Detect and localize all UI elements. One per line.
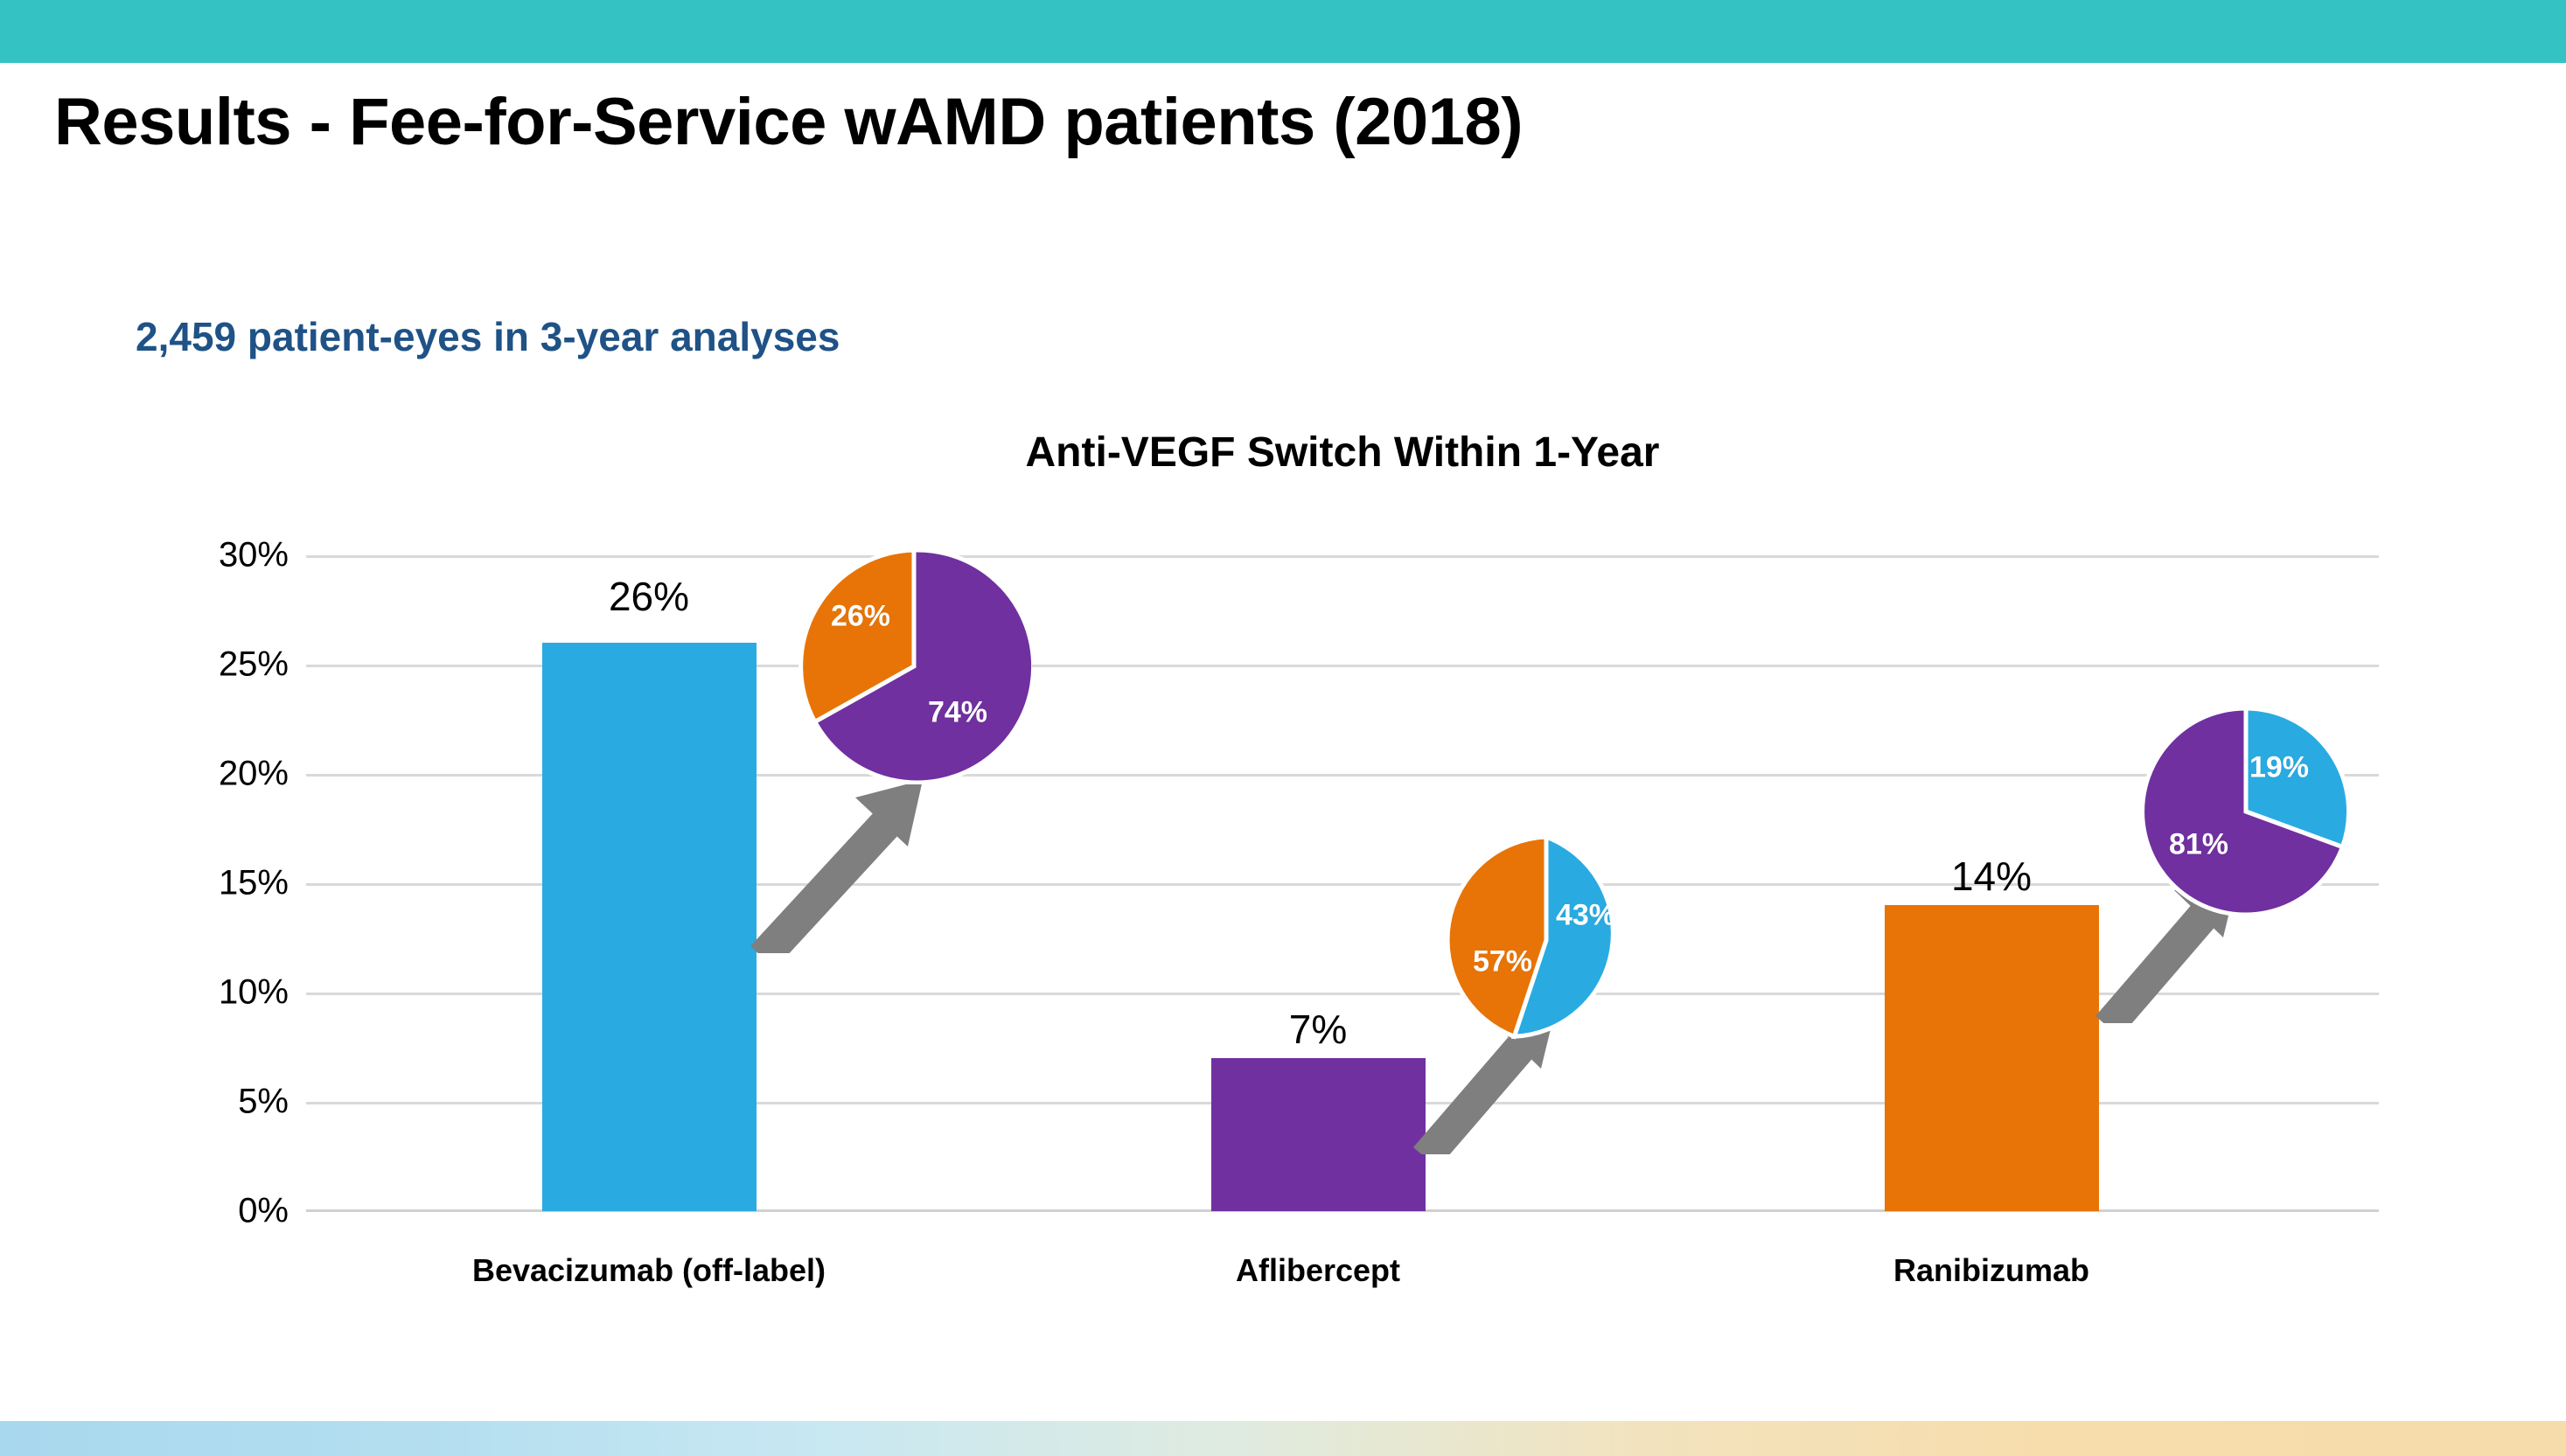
bar-ranibizumab[interactable] bbox=[1885, 905, 2099, 1211]
pie-slice-label-43: 43% bbox=[1556, 899, 1615, 933]
ytick-label-25: 25% bbox=[219, 645, 289, 685]
bottom-accent-band bbox=[0, 1421, 2566, 1456]
pie-slice-label-74: 74% bbox=[928, 696, 987, 730]
pie-slice-label-57: 57% bbox=[1473, 945, 1532, 979]
pie-slice-label-81: 81% bbox=[2169, 828, 2228, 862]
bevacizumab-switch-pie[interactable]: 26% 74% bbox=[796, 548, 1032, 784]
bar-value-aflibercept: 7% bbox=[1289, 1006, 1347, 1053]
ranibizumab-switch-pie[interactable]: 19% 81% bbox=[2141, 707, 2351, 916]
anti-vegf-switch-chart: 30% 25% 20% 15% 10% 5% 0% Bevacizumab (o… bbox=[0, 0, 2566, 1456]
xtick-label-ranibizumab: Ranibizumab bbox=[1893, 1252, 2089, 1289]
xtick-label-aflibercept: Aflibercept bbox=[1236, 1252, 1400, 1289]
pie-slice-label-19: 19% bbox=[2249, 751, 2309, 785]
bar-bevacizumab[interactable] bbox=[542, 643, 757, 1211]
ytick-label-5: 5% bbox=[238, 1083, 289, 1122]
aflibercept-switch-pie[interactable]: 43% 57% bbox=[1441, 835, 1651, 1045]
ytick-label-20: 20% bbox=[219, 755, 289, 794]
ytick-label-30: 30% bbox=[219, 536, 289, 575]
plot-area bbox=[306, 555, 2379, 1211]
bar-value-ranibizumab: 14% bbox=[1951, 853, 2032, 900]
bar-value-bevacizumab: 26% bbox=[609, 573, 689, 620]
gridline-30 bbox=[306, 555, 2379, 558]
bar-aflibercept[interactable] bbox=[1211, 1058, 1426, 1211]
ytick-label-15: 15% bbox=[219, 864, 289, 903]
pie-slice-label-26: 26% bbox=[831, 600, 890, 634]
ytick-label-0: 0% bbox=[238, 1192, 289, 1231]
xtick-label-bevacizumab: Bevacizumab (off-label) bbox=[472, 1252, 826, 1289]
ytick-label-10: 10% bbox=[219, 973, 289, 1013]
